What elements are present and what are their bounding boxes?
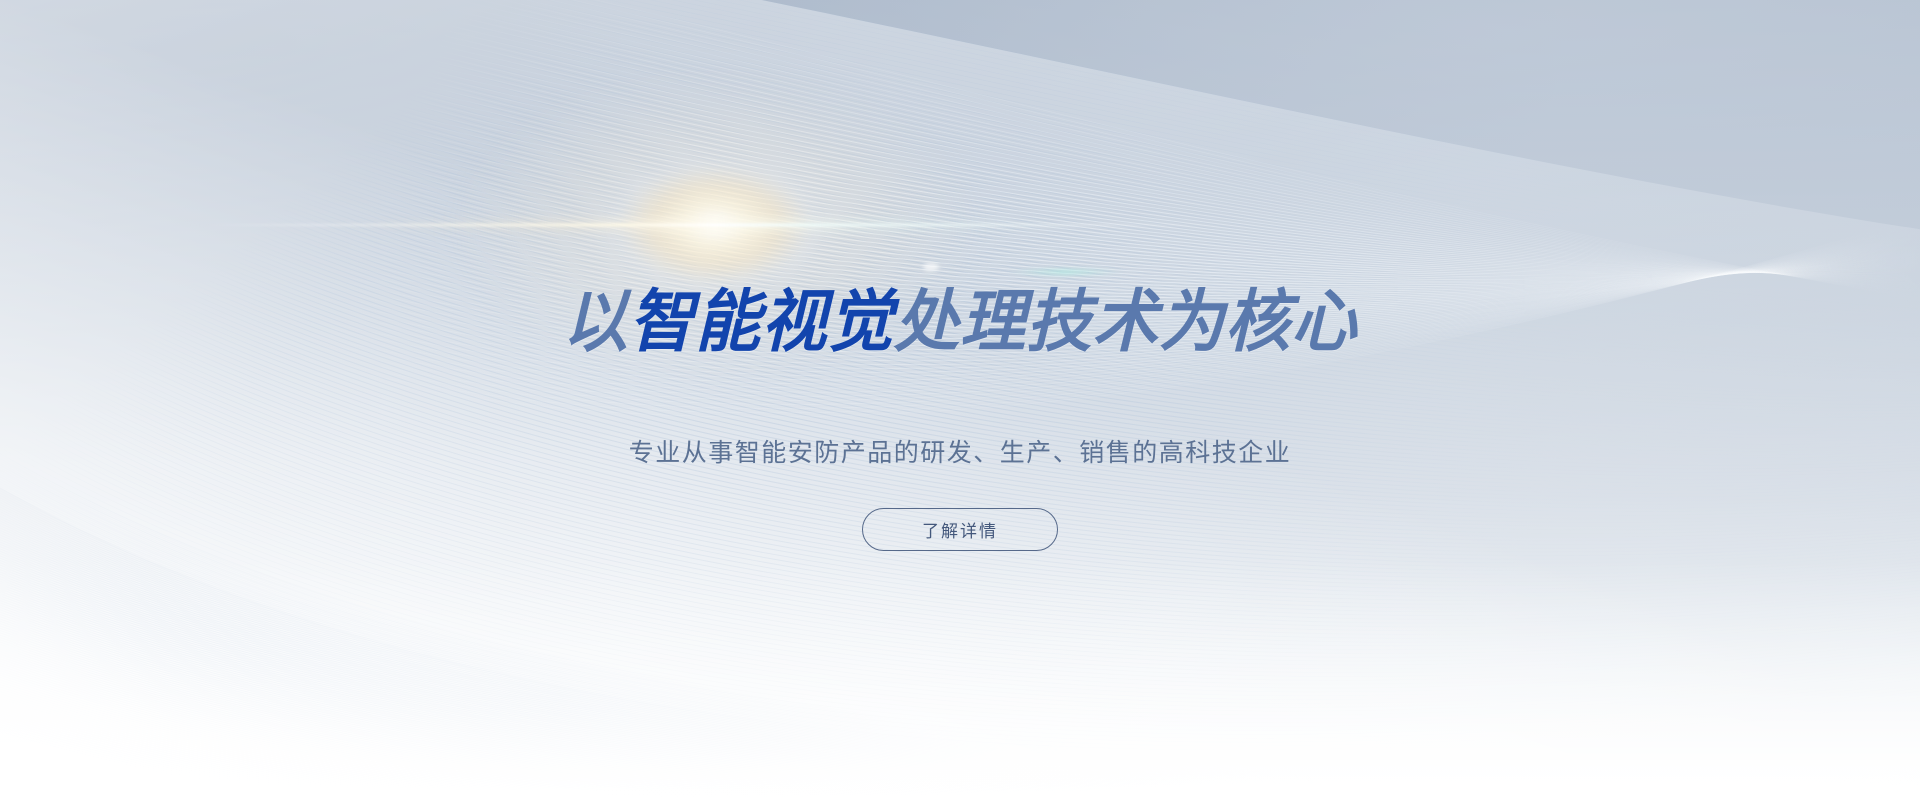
hero-subtitle: 专业从事智能安防产品的研发、生产、销售的高科技企业 — [0, 433, 1920, 469]
hero-banner: 以智能视觉处理技术为核心 专业从事智能安防产品的研发、生产、销售的高科技企业 了… — [0, 0, 1920, 800]
title-segment-1: 以 — [563, 283, 629, 362]
cta-row: 了解详情 — [0, 508, 1920, 551]
title-segment-3: 处理技术为核心 — [894, 283, 1358, 362]
title-segment-accent: 智能视觉 — [629, 283, 894, 362]
hero-content: 以智能视觉处理技术为核心 专业从事智能安防产品的研发、生产、销售的高科技企业 了… — [0, 0, 1920, 800]
learn-more-button[interactable]: 了解详情 — [862, 508, 1058, 551]
page-title: 以智能视觉处理技术为核心 — [38, 289, 1881, 357]
